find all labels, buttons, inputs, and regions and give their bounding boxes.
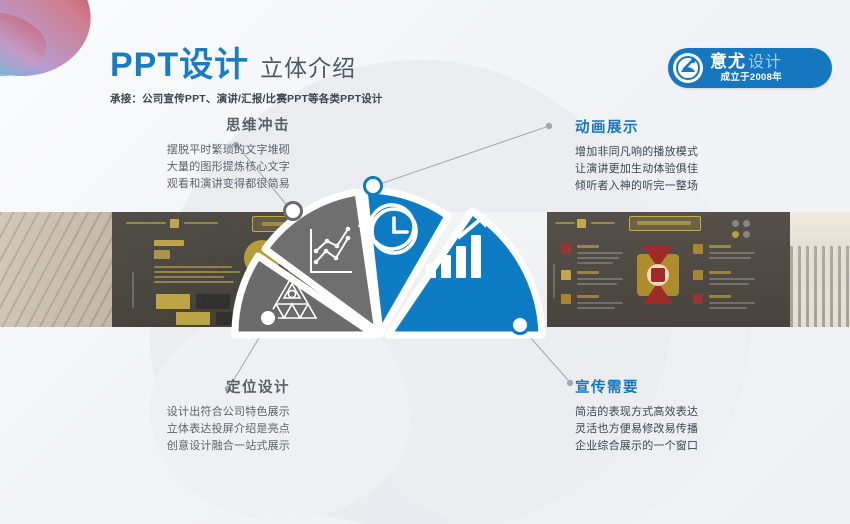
info-line: 设计出符合公司特色展示 (60, 404, 290, 421)
fan-node-bottom-right[interactable] (512, 317, 529, 334)
info-block-siwei: 思维冲击 摆脱平时繁琐的文字堆砌 大量的图形提炼核心文字 观看和演讲变得都很简易 (60, 118, 290, 194)
mouse-circle-icon (673, 53, 703, 83)
title-row: PPT设计 立体介绍 (110, 48, 383, 82)
slide-canvas: PPT设计 立体介绍 承接：公司宣传PPT、演讲/汇报/比赛PPT等各类PPT设… (0, 0, 850, 524)
info-block-body: 设计出符合公司特色展示 立体表达投屏介绍是亮点 创意设计融合一站式展示 (60, 404, 290, 455)
logo-brand-suffix: 设计 (748, 55, 782, 72)
info-line: 摆脱平时繁琐的文字堆砌 (60, 142, 290, 159)
info-line: 立体表达投屏介绍是亮点 (60, 421, 290, 438)
info-block-title: 定位设计 (60, 380, 290, 397)
ppt-thumbnail-right (547, 212, 797, 327)
info-block-xuanchuan: 宣传需要 简洁的表现方式高效表达 灵活也方便易修改易传播 企业综合展示的一个窗口 (575, 380, 805, 456)
info-line: 企业综合展示的一个窗口 (575, 438, 805, 455)
info-line: 让演讲更加生动体验俱佳 (575, 161, 805, 178)
info-block-body: 摆脱平时繁琐的文字堆砌 大量的图形提炼核心文字 观看和演讲变得都很简易 (60, 142, 290, 193)
page-subtitle: 立体介绍 (260, 57, 356, 82)
fan-node-top-right[interactable] (365, 178, 382, 195)
info-line: 大量的图形提炼核心文字 (60, 159, 290, 176)
fan-node-bottom-left[interactable] (260, 310, 277, 327)
info-block-title: 宣传需要 (575, 380, 805, 397)
info-line: 观看和演讲变得都很简易 (60, 176, 290, 193)
info-line: 灵活也方便易修改易传播 (575, 421, 805, 438)
header: PPT设计 立体介绍 承接：公司宣传PPT、演讲/汇报/比赛PPT等各类PPT设… (110, 48, 383, 106)
fan-node-top-left[interactable] (285, 203, 302, 220)
info-block-title: 动画展示 (575, 120, 805, 137)
brand-logo[interactable]: 意尤 设计 成立于2008年 (668, 48, 832, 88)
photo-sky (790, 212, 850, 246)
info-line: 创意设计融合一站式展示 (60, 438, 290, 455)
logo-established: 成立于2008年 (710, 73, 782, 83)
logo-text: 意尤 设计 成立于2008年 (710, 53, 782, 83)
info-block-body: 简洁的表现方式高效表达 灵活也方便易修改易传播 企业综合展示的一个窗口 (575, 404, 805, 455)
info-block-dingwei: 定位设计 设计出符合公司特色展示 立体表达投屏介绍是亮点 创意设计融合一站式展示 (60, 380, 290, 456)
info-block-donghua: 动画展示 增加非同凡响的播放模式 让演讲更加生动体验俱佳 倾听者入神的听完一整场 (575, 120, 805, 196)
logo-brand-name: 意尤 (710, 53, 746, 71)
info-block-title: 思维冲击 (60, 118, 290, 135)
header-description: 承接：公司宣传PPT、演讲/汇报/比赛PPT等各类PPT设计 (110, 91, 383, 106)
info-block-body: 增加非同凡响的播放模式 让演讲更加生动体验俱佳 倾听者入神的听完一整场 (575, 144, 805, 195)
info-line: 倾听者入神的听完一整场 (575, 178, 805, 195)
page-title: PPT设计 (110, 48, 249, 82)
info-line: 增加非同凡响的播放模式 (575, 144, 805, 161)
info-line: 简洁的表现方式高效表达 (575, 404, 805, 421)
